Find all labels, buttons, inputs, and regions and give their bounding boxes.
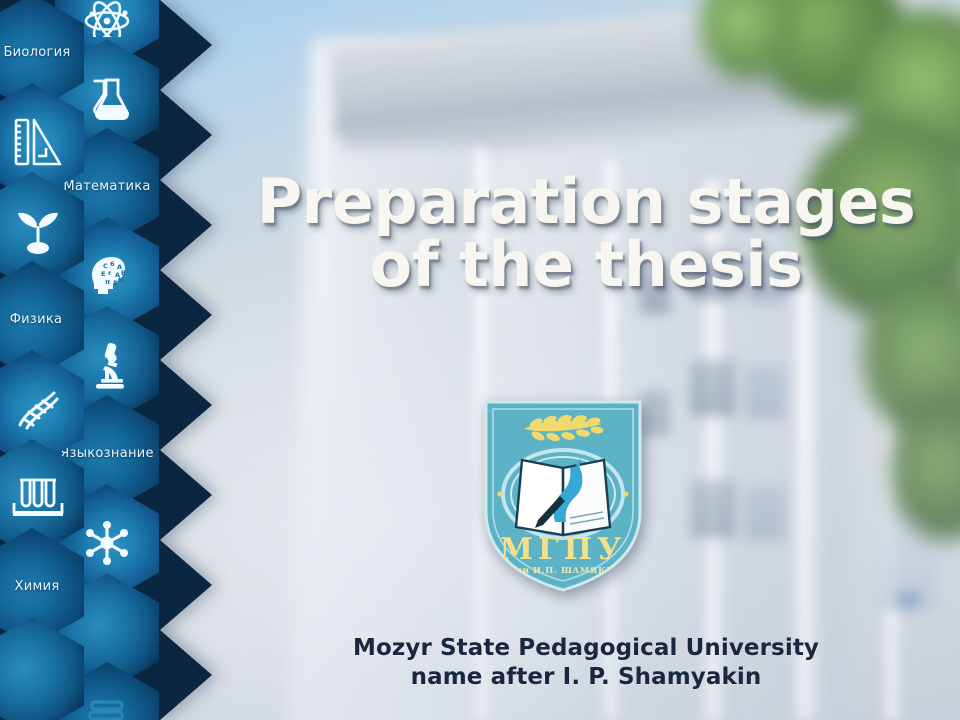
svg-text:Σ: Σ <box>113 279 117 287</box>
molecule-icon <box>80 516 134 570</box>
hex-label-physics: Физика <box>0 313 66 327</box>
atom-icon <box>79 0 135 37</box>
flask-icon <box>81 72 133 124</box>
books-icon <box>82 696 132 720</box>
slide-title-line1: Preparation stages <box>257 165 916 238</box>
dna-icon <box>9 384 65 434</box>
slide-subtitle: Mozyr State Pedagogical University name … <box>212 634 960 693</box>
svg-text:6: 6 <box>110 260 115 268</box>
hexagon-sidebar: Математика C6A ErAB πΣ N <box>0 0 212 720</box>
head-brain-icon: C6A ErAB πΣ N <box>80 250 134 302</box>
test-tubes-icon <box>8 473 66 523</box>
logo-dot-right <box>623 491 628 496</box>
ruler-triangle-icon <box>10 114 66 170</box>
slide-subtitle-line2: name after I. P. Shamyakin <box>212 663 960 692</box>
hex-label-linguistics: Языкознание <box>56 447 158 461</box>
slide-subtitle-line1: Mozyr State Pedagogical University <box>353 635 819 661</box>
logo-acronym: МГПУ <box>500 532 627 567</box>
university-logo: МГПУ имени И.П. ШАМЯКИНА <box>480 396 646 596</box>
hex-label-mathematics: Математика <box>59 180 154 194</box>
logo-named-after: имени И.П. ШАМЯКИНА <box>495 566 631 576</box>
hexagon-grid: Математика C6A ErAB πΣ N <box>0 0 212 720</box>
logo-dot-left <box>497 491 502 496</box>
svg-text:N: N <box>118 276 123 284</box>
sprout-icon <box>10 206 66 256</box>
presentation-slide: Математика C6A ErAB πΣ N <box>0 0 960 720</box>
slide-title: Preparation stages of the thesis <box>212 170 960 296</box>
hex-label-chemistry: Химия <box>1 580 64 594</box>
svg-text:π: π <box>105 278 110 286</box>
microscope-icon <box>81 338 133 392</box>
slide-title-line2: of the thesis <box>212 233 960 296</box>
hex-label-biology: Биология <box>0 46 75 60</box>
svg-text:E: E <box>101 270 105 278</box>
